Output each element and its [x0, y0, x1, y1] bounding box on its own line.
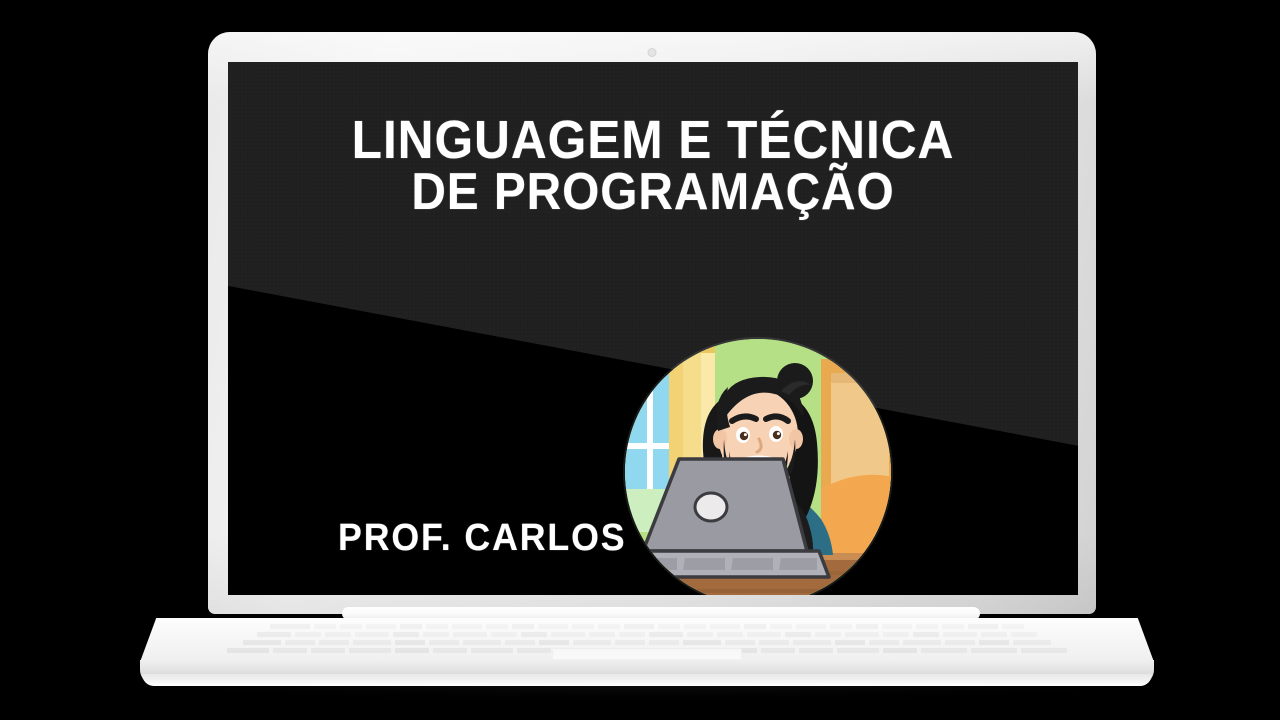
keyboard-key — [505, 640, 535, 645]
keyboard-key — [1013, 640, 1051, 645]
keyboard-key — [1021, 648, 1067, 653]
keyboard-key — [471, 648, 513, 653]
laptop-screen: LINGUAGEM E TÉCNICA DE PROGRAMAÇÃO PROF.… — [228, 62, 1078, 595]
keyboard-key — [649, 632, 683, 637]
keyboard-key — [916, 624, 938, 629]
slide-canvas: LINGUAGEM E TÉCNICA DE PROGRAMAÇÃO PROF.… — [0, 0, 1280, 720]
keyboard-key — [314, 624, 336, 629]
keyboard-key — [945, 640, 975, 645]
keyboard-key — [942, 624, 964, 629]
laptop-base-lip — [142, 674, 1152, 686]
keyboard-key — [619, 632, 645, 637]
keyboard-key — [687, 632, 713, 637]
keyboard-key — [227, 648, 269, 653]
keyboard-key — [452, 624, 482, 629]
keyboard-key — [572, 624, 594, 629]
keyboard-key — [845, 632, 879, 637]
keyboard-key — [463, 640, 501, 645]
keyboard-key — [883, 648, 917, 653]
trackpad — [552, 648, 742, 660]
keyboard-key — [869, 640, 899, 645]
keyboard-key — [366, 624, 396, 629]
keyboard-key — [968, 624, 998, 629]
keyboard-key — [517, 648, 551, 653]
keyboard-key — [658, 624, 680, 629]
keyboard-key — [491, 632, 517, 637]
keyboard-key — [429, 640, 459, 645]
keyboard-key — [353, 640, 391, 645]
presenter-name: PROF. CARLOS — [338, 517, 626, 560]
keyboard-key — [423, 632, 449, 637]
keyboard-key — [979, 640, 1009, 645]
keyboard-key — [325, 632, 351, 637]
keyboard-key — [573, 640, 611, 645]
keyboard-key — [433, 648, 467, 653]
page-title: LINGUAGEM E TÉCNICA DE PROGRAMAÇÃO — [262, 114, 1044, 218]
keyboard-key — [856, 624, 878, 629]
keyboard-key — [837, 648, 879, 653]
keyboard-key — [683, 640, 721, 645]
keyboard-key — [538, 624, 568, 629]
keyboard-key — [759, 640, 789, 645]
title-line-1: LINGUAGEM E TÉCNICA — [262, 114, 1044, 167]
keyboard-key — [453, 632, 487, 637]
keyboard-key — [747, 632, 781, 637]
keyboard-key — [649, 640, 679, 645]
keyboard-key — [796, 624, 826, 629]
keyboard-key — [710, 624, 740, 629]
keyboard-key — [1011, 632, 1037, 637]
keyboard-key — [785, 632, 811, 637]
keyboard-key — [295, 632, 321, 637]
keyboard-key — [793, 640, 831, 645]
keyboard-key — [717, 632, 743, 637]
keyboard-key — [815, 632, 841, 637]
keyboard-row — [166, 632, 1128, 637]
keyboard-key — [539, 640, 569, 645]
keyboard-key — [615, 640, 645, 645]
keyboard-key — [725, 640, 755, 645]
keyboard-key — [551, 632, 585, 637]
keyboard-key — [624, 624, 654, 629]
keyboard-key — [981, 632, 1007, 637]
keyboard-key — [395, 648, 429, 653]
keyboard-key — [598, 624, 620, 629]
keyboard-key — [971, 648, 1017, 653]
keyboard-row — [160, 624, 1134, 629]
keyboard-key — [340, 624, 362, 629]
keyboard-key — [400, 624, 422, 629]
keyboard-key — [1002, 624, 1024, 629]
keyboard-key — [883, 632, 909, 637]
keyboard-key — [882, 624, 912, 629]
laptop-base — [140, 618, 1154, 678]
keyboard-key — [355, 632, 389, 637]
keyboard-key — [761, 648, 795, 653]
keyboard-key — [913, 632, 939, 637]
keyboard-key — [512, 624, 534, 629]
keyboard-key — [395, 640, 425, 645]
keyboard-key — [903, 640, 941, 645]
laptop-lid: LINGUAGEM E TÉCNICA DE PROGRAMAÇÃO PROF.… — [208, 32, 1096, 614]
keyboard-key — [589, 632, 615, 637]
avatar — [625, 339, 891, 595]
keyboard-key — [273, 648, 307, 653]
keyboard-key — [835, 640, 865, 645]
webcam-icon — [648, 48, 657, 57]
keyboard-key — [684, 624, 706, 629]
keyboard-key — [770, 624, 792, 629]
keyboard-key — [426, 624, 448, 629]
keyboard-key — [486, 624, 508, 629]
avatar-illustration — [625, 339, 891, 595]
laptop-device: LINGUAGEM E TÉCNICA DE PROGRAMAÇÃO PROF.… — [0, 0, 1280, 720]
keyboard-key — [311, 648, 345, 653]
keyboard-key — [285, 640, 315, 645]
keyboard-key — [319, 640, 349, 645]
keyboard-key — [257, 632, 291, 637]
keyboard-key — [830, 624, 852, 629]
keyboard-key — [943, 632, 977, 637]
keyboard-key — [270, 624, 310, 629]
keyboard-key — [921, 648, 967, 653]
keyboard-key — [799, 648, 833, 653]
keyboard-key — [243, 640, 281, 645]
keyboard-key — [349, 648, 391, 653]
keyboard-key — [393, 632, 419, 637]
laptop-base-top — [140, 618, 1154, 662]
keyboard-row — [172, 640, 1122, 645]
title-line-2: DE PROGRAMAÇÃO — [262, 167, 1044, 218]
keyboard-key — [744, 624, 766, 629]
keyboard-key — [521, 632, 547, 637]
